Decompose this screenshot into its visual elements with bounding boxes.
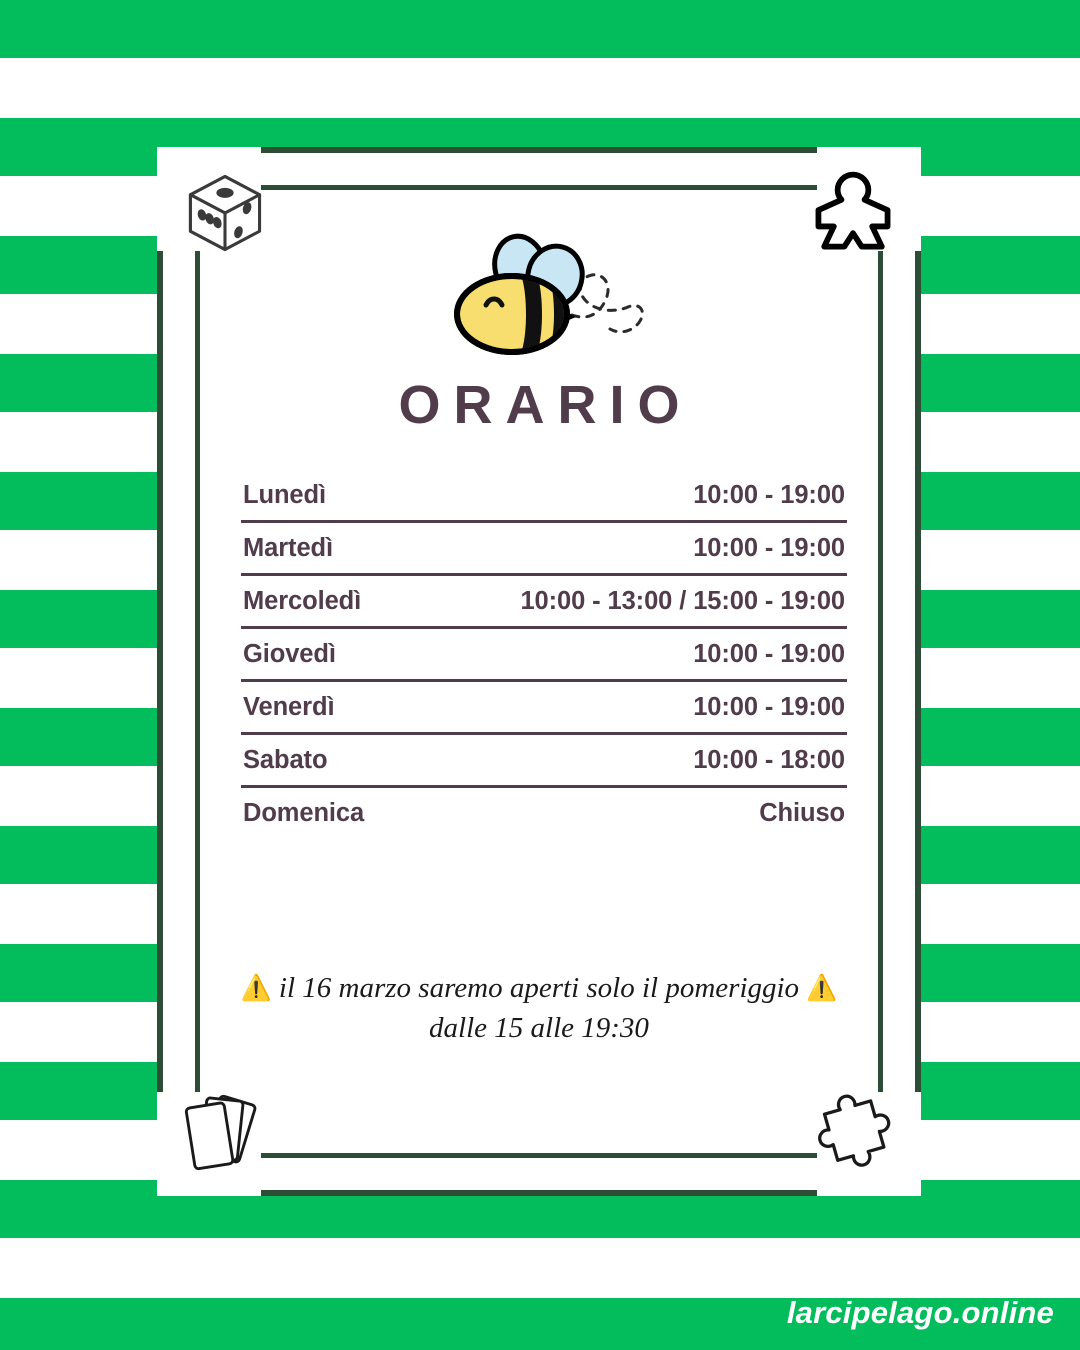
day-label: Martedì (243, 534, 333, 563)
day-hours: 10:00 - 18:00 (693, 746, 845, 775)
day-label: Mercoledì (243, 587, 361, 616)
page-title: ORARIO (163, 377, 915, 434)
day-hours: 10:00 - 19:00 (693, 640, 845, 669)
special-notice: ⚠️ il 16 marzo saremo aperti solo il pom… (209, 968, 869, 1048)
day-label: Venerdì (243, 693, 334, 722)
puzzle-piece-icon (805, 1082, 901, 1178)
day-hours: Chiuso (759, 799, 845, 828)
day-label: Giovedì (243, 640, 336, 669)
poster-card: ORARIO Lunedì 10:00 - 19:00 Martedì 10:0… (157, 147, 921, 1196)
table-row: Mercoledì 10:00 - 13:00 / 15:00 - 19:00 (241, 576, 847, 629)
schedule-table: Lunedì 10:00 - 19:00 Martedì 10:00 - 19:… (241, 470, 847, 838)
day-hours: 10:00 - 13:00 / 15:00 - 19:00 (520, 587, 845, 616)
warning-icon: ⚠️ (241, 975, 272, 1002)
notice-line-2: dalle 15 alle 19:30 (429, 1012, 649, 1044)
table-row: Sabato 10:00 - 18:00 (241, 735, 847, 788)
site-watermark-text: larcipelago.online (787, 1295, 1054, 1331)
dice-icon (177, 165, 273, 261)
playing-cards-icon (175, 1084, 271, 1180)
table-row: Martedì 10:00 - 19:00 (241, 523, 847, 576)
day-hours: 10:00 - 19:00 (693, 693, 845, 722)
bee-icon (424, 229, 654, 369)
table-row: Lunedì 10:00 - 19:00 (241, 470, 847, 523)
poster-header: ORARIO (163, 229, 915, 434)
footer-watermark-bar: larcipelago.online (0, 1242, 1080, 1350)
day-label: Sabato (243, 746, 327, 775)
table-row: Venerdì 10:00 - 19:00 (241, 682, 847, 735)
warning-icon: ⚠️ (806, 975, 837, 1002)
day-label: Domenica (243, 799, 364, 828)
day-hours: 10:00 - 19:00 (693, 534, 845, 563)
day-label: Lunedì (243, 481, 326, 510)
table-row: Domenica Chiuso (241, 788, 847, 838)
day-hours: 10:00 - 19:00 (693, 481, 845, 510)
table-row: Giovedì 10:00 - 19:00 (241, 629, 847, 682)
notice-line-1: il 16 marzo saremo aperti solo il pomeri… (279, 972, 799, 1004)
meeple-icon (805, 165, 901, 261)
